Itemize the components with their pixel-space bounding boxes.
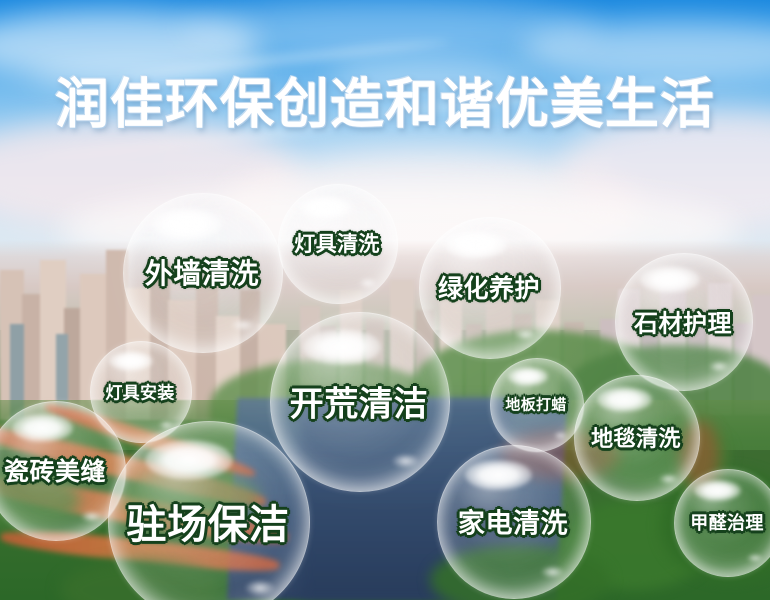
service-bubble-label[interactable]: 家电清洗 — [458, 502, 568, 541]
poster-canvas: 润佳环保创造和谐优美生活 外墙清洗灯具清洗绿化养护石材护理灯具安装开荒清洁地板打… — [0, 0, 770, 600]
service-bubble-label[interactable]: 甲醛治理 — [690, 509, 763, 535]
page-title: 润佳环保创造和谐优美生活 — [55, 60, 715, 139]
service-bubble-label[interactable]: 地毯清洗 — [591, 421, 681, 453]
service-bubble-label[interactable]: 灯具安装 — [105, 379, 174, 404]
service-bubble-label[interactable]: 绿化养护 — [438, 269, 540, 305]
service-bubble-label[interactable]: 灯具清洗 — [294, 228, 380, 258]
service-bubble-label[interactable]: 地板打蜡 — [505, 394, 566, 415]
service-bubble-label[interactable]: 瓷砖美缝 — [4, 452, 106, 488]
service-bubble-label[interactable]: 开荒清洁 — [290, 377, 429, 426]
service-bubble-label[interactable]: 石材护理 — [634, 304, 732, 339]
service-bubble-label[interactable]: 驻场保洁 — [126, 492, 289, 550]
service-bubble-label[interactable]: 外墙清洗 — [145, 252, 259, 292]
